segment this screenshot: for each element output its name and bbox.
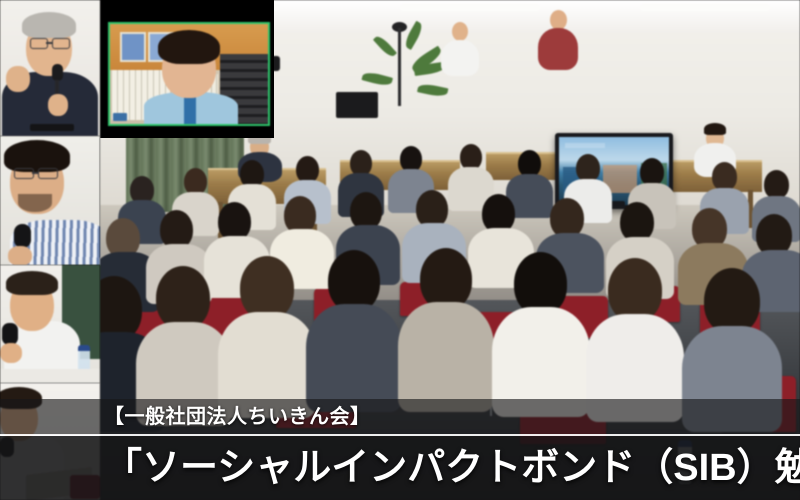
video-call-frame: [108, 22, 270, 126]
participant-hair: [158, 30, 220, 64]
framed-picture: [120, 32, 146, 62]
speaker-panel-1: [0, 0, 100, 136]
event-title: 「ソーシャルインパクトボンド（SIB）勉強会」: [104, 440, 800, 496]
organization-subtitle: 【一般社団法人ちいきん会】: [104, 401, 371, 433]
speaker-panel-3: [0, 265, 100, 383]
participant-tie: [184, 96, 196, 124]
ceiling-light: [400, 4, 540, 11]
ceiling-light: [640, 4, 770, 11]
speaker-panel-2: [0, 136, 100, 265]
microphone-stand: [398, 28, 401, 106]
video-call-name-badge: [113, 113, 127, 121]
event-photo-composite: 【一般社団法人ちいきん会】 「ソーシャルインパクトボンド（SIB）勉強会」: [0, 0, 800, 500]
av-equipment-case: [336, 92, 378, 118]
video-call-inset: [100, 0, 274, 138]
